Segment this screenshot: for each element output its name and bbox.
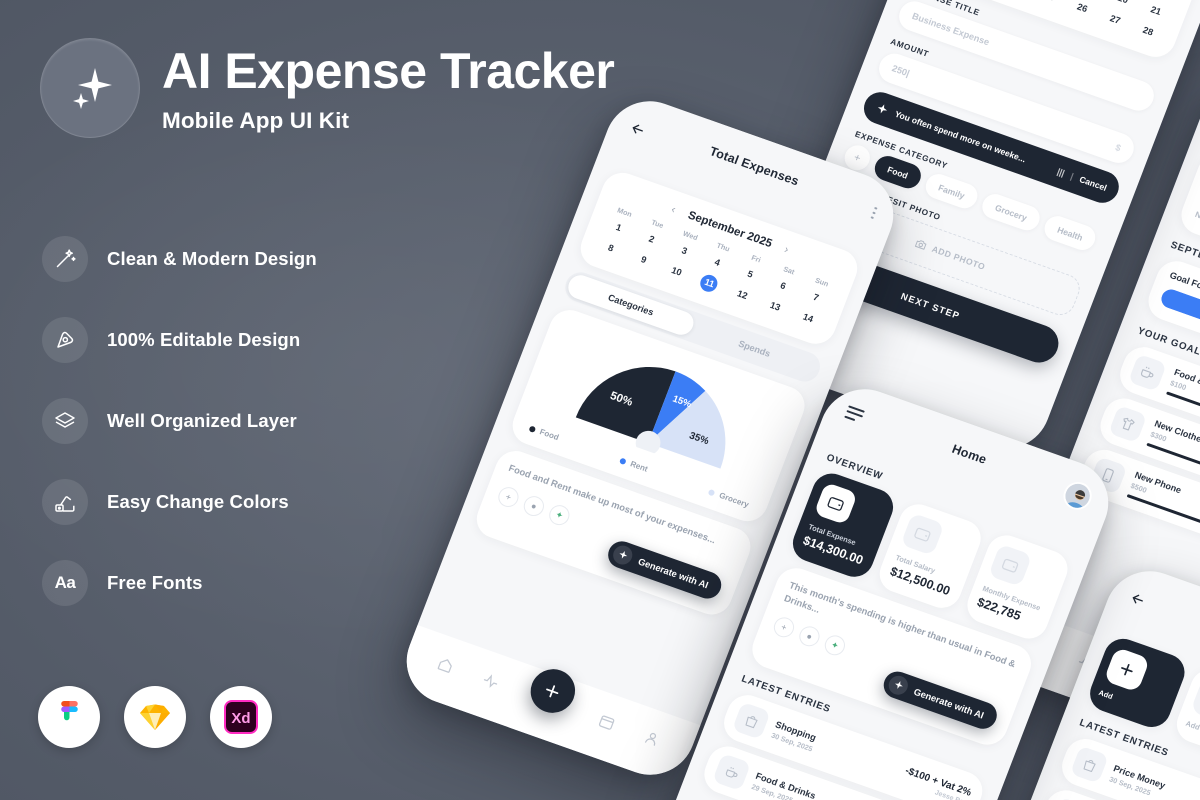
amount-value: 250| (891, 63, 911, 78)
typography-icon: Aa (42, 560, 88, 606)
calendar-prev-icon[interactable]: ‹ (670, 204, 678, 216)
pen-tool-icon (42, 317, 88, 363)
wallet-icon (988, 544, 1032, 587)
action-card-add[interactable]: Add (1085, 634, 1191, 733)
calendar-next-icon[interactable]: › (783, 244, 791, 256)
sparkle-icon[interactable]: ✦ (546, 503, 572, 528)
add-photo-label: ADD PHOTO (930, 244, 986, 272)
layers-icon (42, 398, 88, 444)
wallet-icon (901, 513, 945, 556)
svg-text:Xd: Xd (231, 710, 250, 727)
feature-label: Clean & Modern Design (107, 248, 317, 270)
sketch-icon (139, 703, 171, 731)
legend-item-rent: Rent (619, 456, 649, 474)
sparkle-icon (886, 674, 911, 698)
magic-wand-icon (42, 236, 88, 282)
tshirt-icon (1108, 405, 1147, 443)
legend-item-grocery: Grocery (708, 487, 751, 509)
sparkle-icon (874, 101, 891, 117)
poster-canvas: AI Expense Tracker Mobile App UI Kit Cle… (0, 0, 1200, 800)
shopping-bag-icon (732, 702, 771, 740)
coffee-cup-icon (712, 753, 751, 791)
app-format-badges: Xd (38, 686, 272, 748)
feature-item-editable-design: 100% Editable Design (42, 317, 317, 363)
wallet-icon (814, 482, 858, 525)
feature-item-free-fonts: Aa Free Fonts (42, 560, 317, 606)
feature-item-change-colors: Easy Change Colors (42, 479, 317, 525)
page-subtitle: Mobile App UI Kit (162, 108, 614, 134)
wallet-icon (1191, 678, 1200, 724)
camera-icon (913, 237, 929, 252)
feature-item-clean-modern-design: Clean & Modern Design (42, 236, 317, 282)
shopping-bag-icon (1070, 746, 1109, 784)
mic-icon[interactable]: ● (521, 494, 547, 519)
sparkle-icon (64, 62, 116, 114)
action-label: Add Income (1184, 719, 1200, 749)
figma-badge (38, 686, 100, 748)
color-swatch-icon (42, 479, 88, 525)
figma-icon (58, 701, 81, 734)
feature-item-organized-layer: Well Organized Layer (42, 398, 317, 444)
ai-cancel-button[interactable]: Cancel (1078, 174, 1108, 193)
ai-waveform-icon: ||| (1056, 166, 1066, 178)
plus-icon[interactable]: + (495, 485, 521, 510)
feature-label: Well Organized Layer (107, 410, 297, 432)
mic-icon[interactable]: ● (796, 624, 822, 649)
feature-label: Free Fonts (107, 572, 203, 594)
adobe-xd-icon: Xd (223, 699, 259, 735)
currency-symbol: $ (1114, 142, 1122, 153)
page-title: AI Expense Tracker (162, 46, 614, 98)
feature-list: Clean & Modern Design 100% Editable Desi… (42, 236, 317, 606)
feature-label: 100% Editable Design (107, 329, 300, 351)
action-label: Add (1097, 688, 1162, 718)
legend-item-food: Food (528, 424, 560, 443)
plus-icon (1103, 647, 1150, 693)
brand-header: AI Expense Tracker Mobile App UI Kit (40, 38, 614, 138)
app-logo (40, 38, 140, 138)
sparkle-icon (611, 543, 636, 567)
feature-label: Easy Change Colors (107, 491, 289, 513)
activity-icon[interactable] (480, 670, 502, 692)
coffee-cup-icon (1128, 353, 1167, 391)
calendar-icon[interactable] (596, 711, 618, 733)
left-info-panel: AI Expense Tracker Mobile App UI Kit Cle… (0, 0, 470, 800)
sparkle-icon[interactable]: ✦ (822, 633, 848, 658)
profile-icon[interactable] (641, 727, 663, 749)
plus-icon[interactable]: + (771, 615, 797, 640)
adobe-xd-badge: Xd (210, 686, 272, 748)
sketch-badge (124, 686, 186, 748)
